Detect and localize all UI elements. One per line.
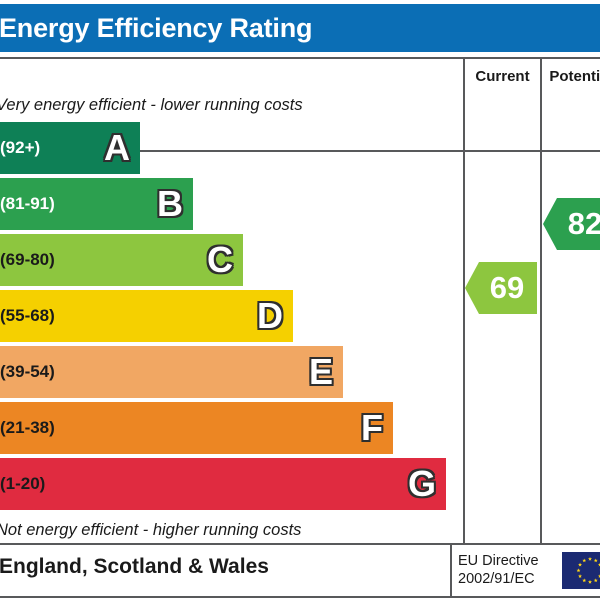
band-letter-c: C bbox=[207, 242, 233, 278]
current-rating-marker: 69 bbox=[465, 262, 537, 314]
band-letter-g: G bbox=[408, 466, 436, 502]
column-header-current: Current bbox=[465, 63, 540, 89]
band-range-e: (39-54) bbox=[0, 362, 55, 382]
eu-flag-icon bbox=[562, 552, 600, 589]
page-title: Energy Efficiency Rating bbox=[0, 13, 312, 44]
band-range-c: (69-80) bbox=[0, 250, 55, 270]
rating-band-b: (81-91)B bbox=[0, 178, 193, 230]
eu-directive-line-1: EU Directive bbox=[458, 552, 539, 570]
band-range-d: (55-68) bbox=[0, 306, 55, 326]
eu-directive-line-2: 2002/91/EC bbox=[458, 570, 539, 588]
energy-efficiency-certificate: Energy Efficiency Rating Current Potenti… bbox=[0, 0, 600, 600]
footer-region-label: England, Scotland & Wales bbox=[0, 555, 269, 579]
band-letter-e: E bbox=[309, 354, 333, 390]
caption-very-efficient: Very energy efficient - lower running co… bbox=[0, 96, 303, 115]
eu-directive-text: EU Directive 2002/91/EC bbox=[458, 552, 539, 588]
rating-band-c: (69-80)C bbox=[0, 234, 243, 286]
caption-not-efficient: Not energy efficient - higher running co… bbox=[0, 521, 301, 540]
rating-band-f: (21-38)F bbox=[0, 402, 393, 454]
band-letter-b: B bbox=[157, 186, 183, 222]
band-range-b: (81-91) bbox=[0, 194, 55, 214]
current-column-divider bbox=[463, 57, 465, 545]
potential-column-divider bbox=[540, 57, 542, 545]
band-range-a: (92+) bbox=[0, 138, 40, 158]
band-letter-d: D bbox=[257, 298, 283, 334]
band-range-g: (1-20) bbox=[0, 474, 45, 494]
potential-rating-value: 82 bbox=[568, 206, 600, 242]
band-letter-f: F bbox=[361, 410, 383, 446]
rating-band-d: (55-68)D bbox=[0, 290, 293, 342]
band-letter-a: A bbox=[104, 130, 130, 166]
rating-band-g: (1-20)G bbox=[0, 458, 446, 510]
chart-title-bar: Energy Efficiency Rating bbox=[0, 4, 600, 52]
column-header-potential: Potential bbox=[542, 63, 600, 89]
footer-divider bbox=[450, 545, 452, 596]
rating-band-e: (39-54)E bbox=[0, 346, 343, 398]
rating-band-a: (92+)A bbox=[0, 122, 140, 174]
band-range-f: (21-38) bbox=[0, 418, 55, 438]
certificate-footer: England, Scotland & Wales EU Directive 2… bbox=[0, 545, 600, 598]
screenshot-viewport: Energy Efficiency Rating Current Potenti… bbox=[0, 0, 600, 600]
current-rating-value: 69 bbox=[490, 270, 524, 306]
